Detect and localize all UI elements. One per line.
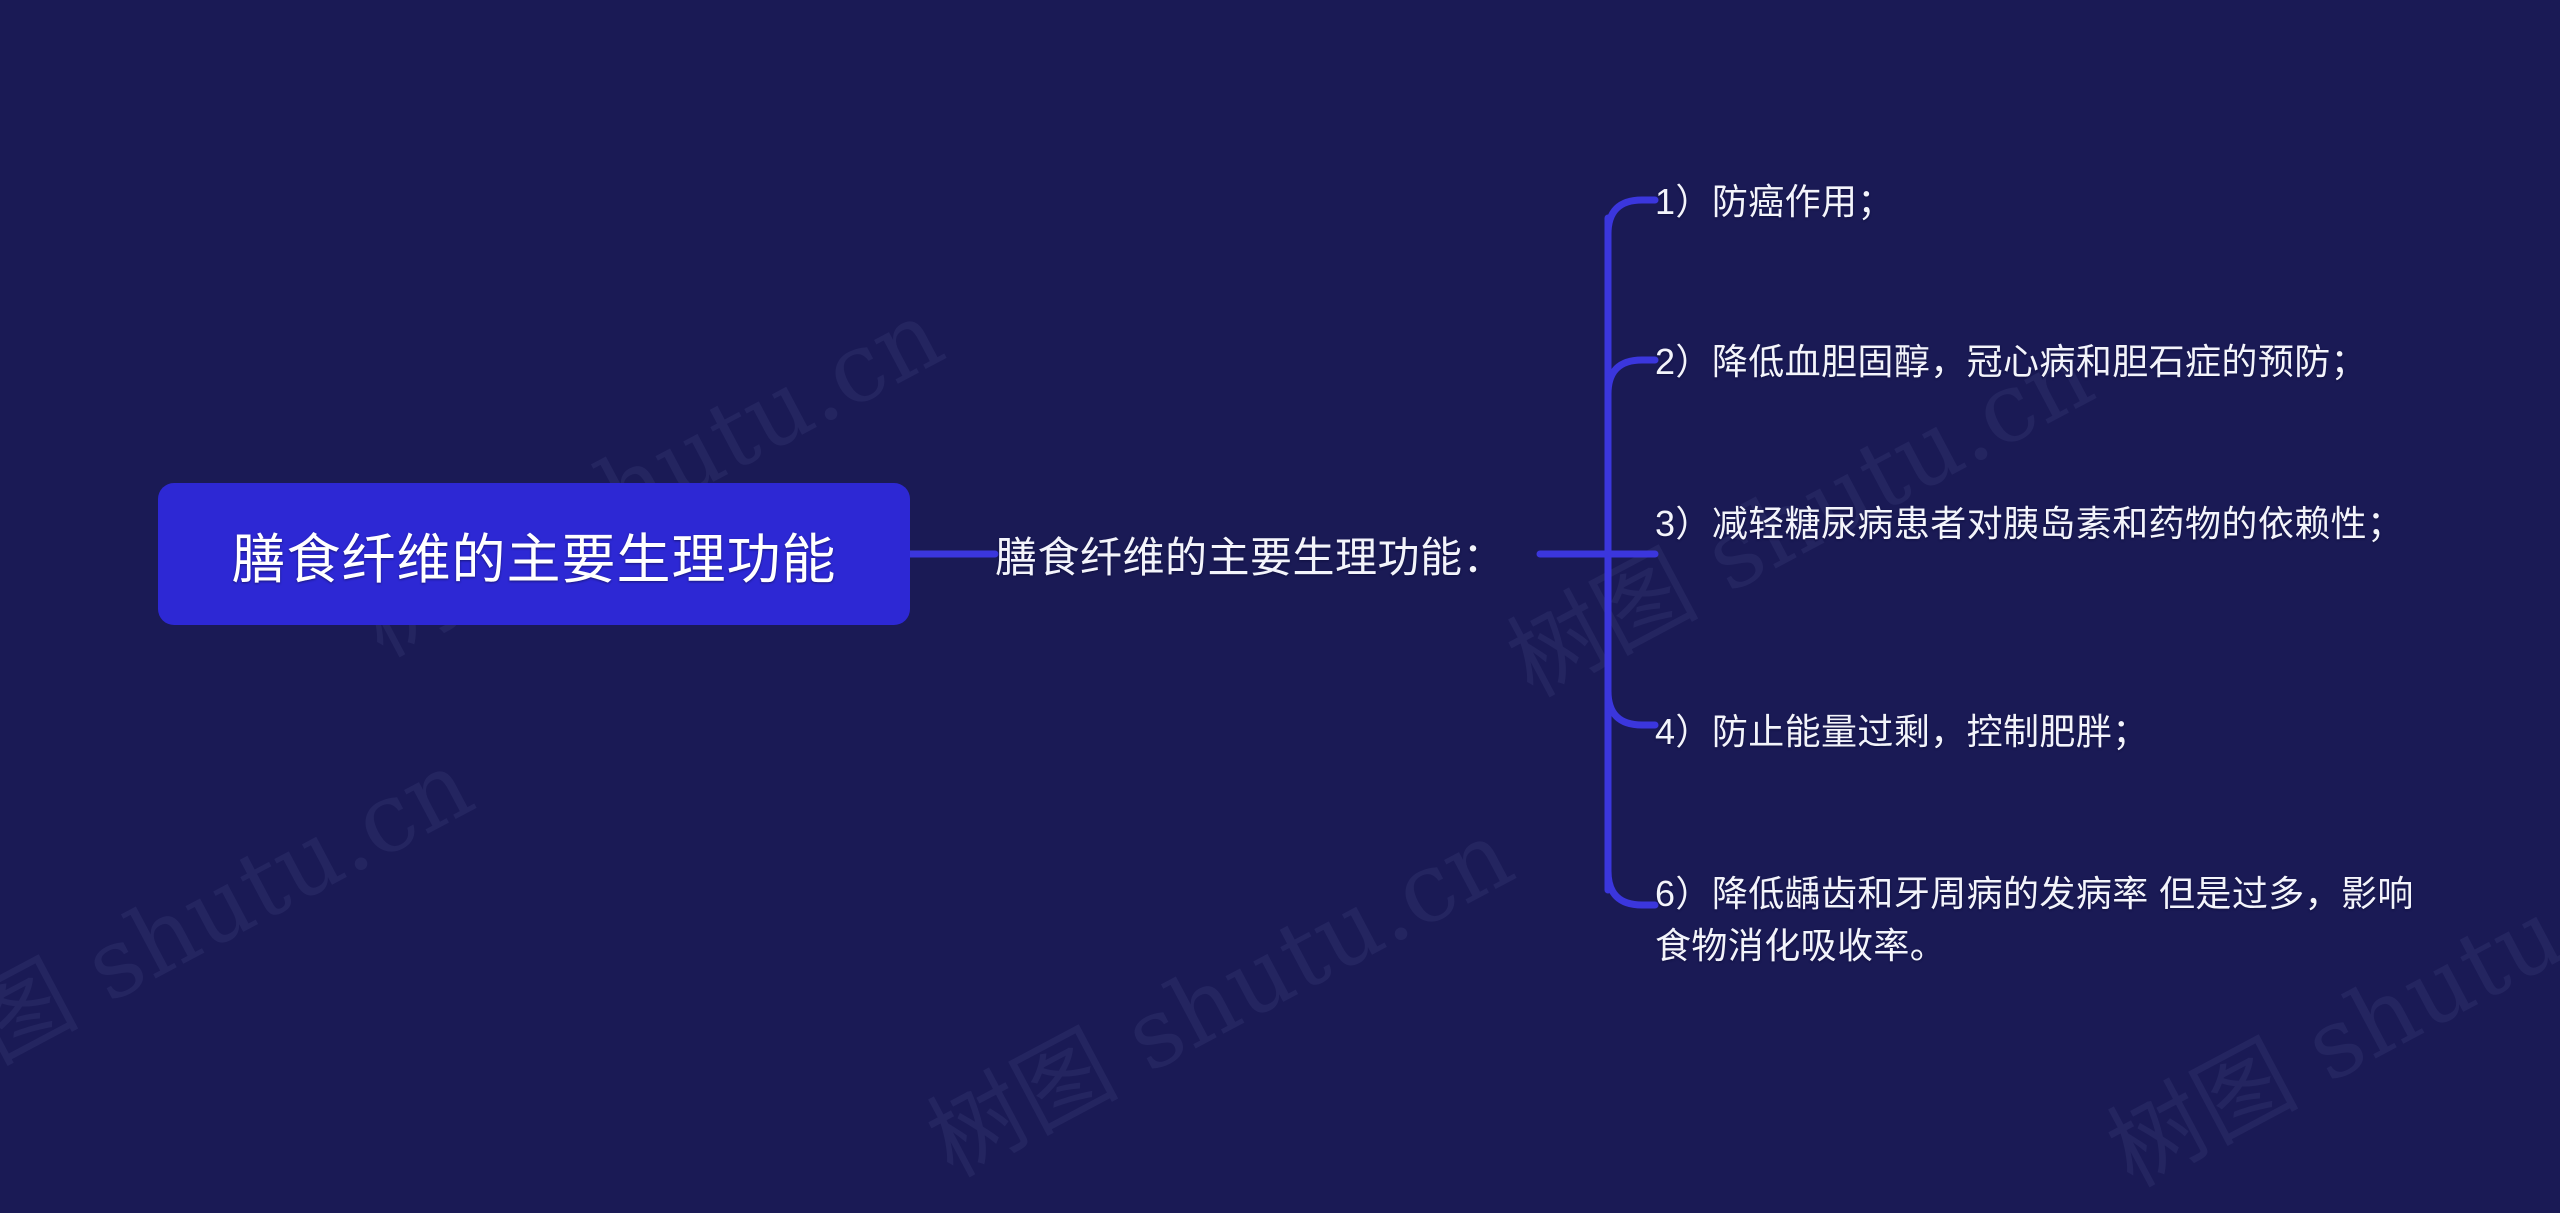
leaf-node-label: 4）防止能量过剩，控制肥胖； (1655, 706, 2475, 758)
watermark: 树图 shutu.cn (0, 709, 492, 1133)
connector-branch-4 (1608, 691, 1655, 725)
leaf-node-3[interactable]: 3）减轻糖尿病患者对胰岛素和药物的依赖性； (1655, 498, 2455, 550)
leaf-node-5[interactable]: 6）降低龋齿和牙周病的发病率 但是过多，影响食物消化吸收率。 (1655, 868, 2445, 972)
leaf-node-label: 2）降低血胆固醇，冠心病和胆石症的预防； (1655, 336, 2495, 388)
branch-node[interactable]: 膳食纤维的主要生理功能： (995, 512, 1555, 596)
branch-node-label: 膳食纤维的主要生理功能： (995, 524, 1505, 585)
root-node-label: 膳食纤维的主要生理功能 (232, 515, 837, 594)
leaf-node-1[interactable]: 1）防癌作用； (1655, 176, 2475, 228)
connector-branch-5 (1608, 871, 1655, 905)
connector-branch-2 (1608, 360, 1655, 394)
leaf-node-label: 1）防癌作用； (1655, 176, 2475, 228)
mindmap-canvas: 树图 shutu.cn 树图 shutu.cn 树图 shutu.cn 树图 s… (0, 0, 2560, 1130)
watermark: 树图 shutu.cn (900, 779, 1532, 1203)
watermark: 树图 shutu.cn (2080, 789, 2560, 1213)
leaf-node-4[interactable]: 4）防止能量过剩，控制肥胖； (1655, 706, 2475, 758)
leaf-node-label: 6）降低龋齿和牙周病的发病率 但是过多，影响食物消化吸收率。 (1655, 868, 2445, 972)
connector-branch-1 (1608, 200, 1655, 234)
leaf-node-label: 3）减轻糖尿病患者对胰岛素和药物的依赖性； (1655, 498, 2455, 550)
root-node[interactable]: 膳食纤维的主要生理功能 (158, 483, 910, 625)
leaf-node-2[interactable]: 2）降低血胆固醇，冠心病和胆石症的预防； (1655, 336, 2495, 388)
